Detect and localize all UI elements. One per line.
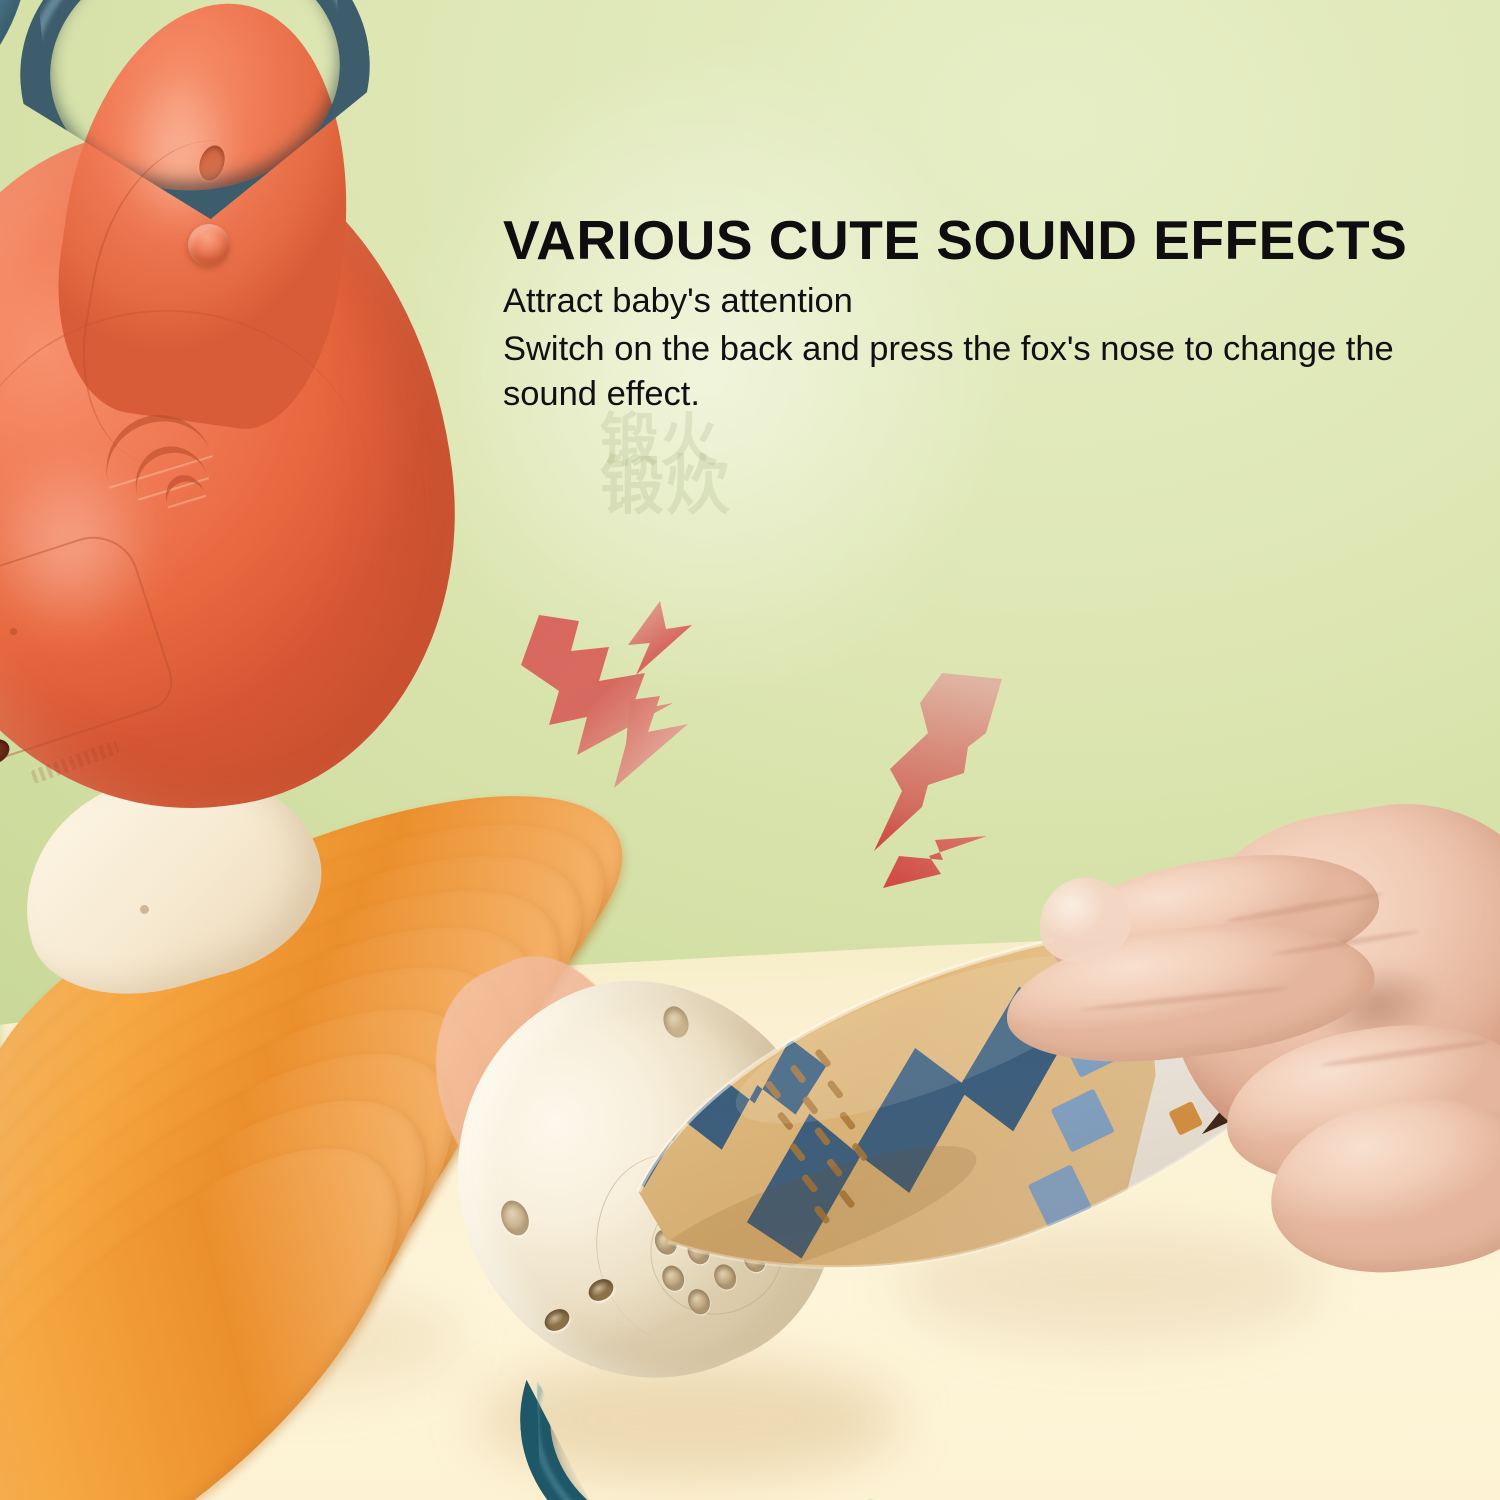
sound-bolt-small-left-icon [620,601,696,691]
subcopy-line-1: Attract baby's attention [503,279,1488,324]
sound-bolt-small-right-icon [883,830,989,892]
neck-vent-dot [140,905,149,914]
battery-panel-dot [10,628,17,635]
copy-block: VARIOUS CUTE SOUND EFFECTS Attract baby'… [503,211,1488,417]
hand [1020,800,1500,1360]
subcopy: Attract baby's attention Switch on the b… [503,279,1488,417]
fox-head[interactable] [0,0,480,830]
subcopy-line-3: sound effect. [503,372,1488,417]
headline: VARIOUS CUTE SOUND EFFECTS [503,211,1488,270]
carry-handle[interactable] [20,0,370,220]
product-feature-banner: 锻火 锻炊 VARIOUS CUTE SOUND EFFECTS Attract… [0,0,1500,1500]
subcopy-line-2: Switch on the back and press the fox's n… [503,327,1488,372]
